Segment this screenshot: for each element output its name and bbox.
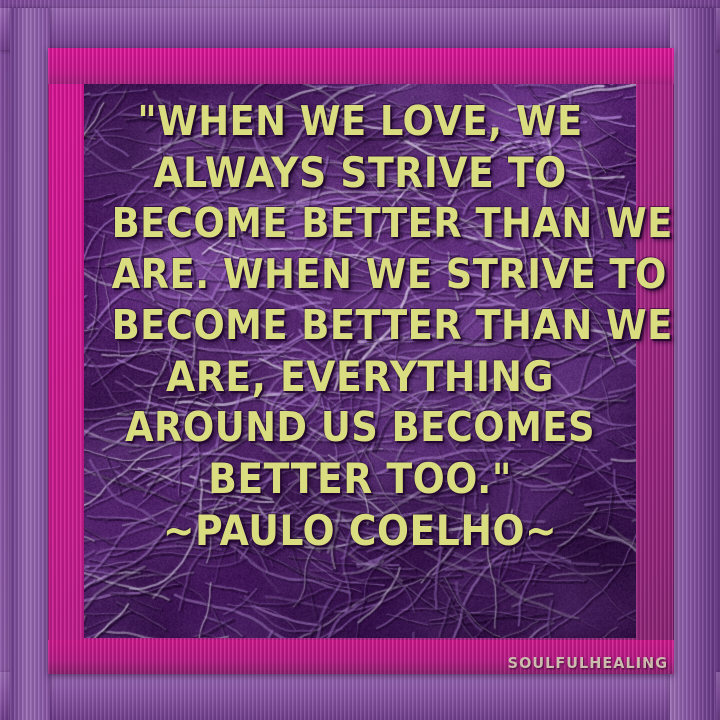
quote-line: "WHEN WE LOVE, WE [112, 96, 609, 147]
quote-poster: "WHEN WE LOVE, WE ALWAYS STRIVE TO BECOM… [0, 0, 720, 720]
frame-slat-left [10, 8, 50, 720]
watermark-label: SOULFULHEALING [508, 654, 668, 672]
quote-attribution: ~PAULO COELHO~ [112, 504, 609, 558]
quote-line: BECOME BETTER THAN WE [112, 198, 609, 249]
frame-slat-right [670, 8, 716, 720]
quote-line: AROUND US BECOMES [112, 402, 609, 453]
frame-slat-bottom [0, 672, 720, 720]
quote-line: ARE, EVERYTHING [112, 351, 609, 402]
quote-line: ARE. WHEN WE STRIVE TO [112, 249, 609, 300]
inner-magenta-mat-top [48, 48, 674, 84]
quote-line: BECOME BETTER THAN WE [112, 300, 609, 351]
quote-line: BETTER TOO." [112, 453, 609, 504]
quote-line: ALWAYS STRIVE TO [112, 147, 609, 198]
quote-text-block: "WHEN WE LOVE, WE ALWAYS STRIVE TO BECOM… [84, 96, 636, 558]
frame-slat-top [0, 8, 720, 50]
